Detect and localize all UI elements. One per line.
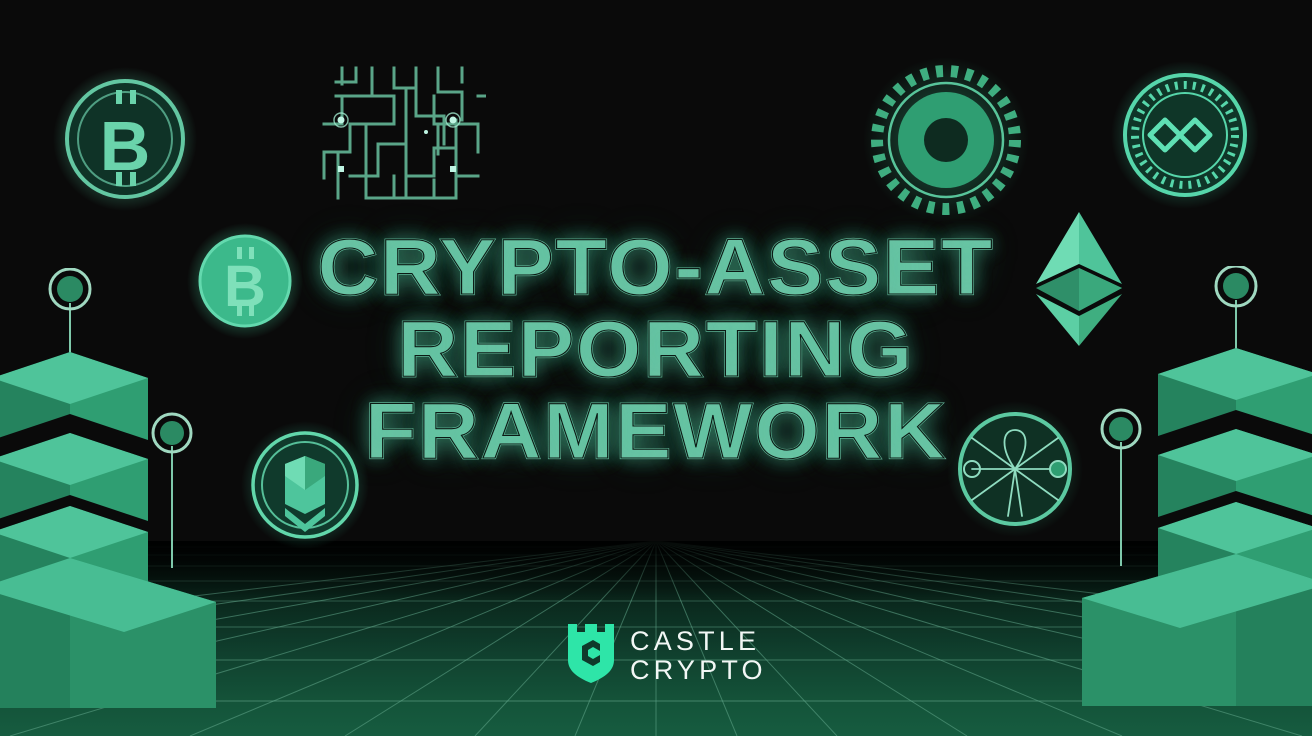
circuit-board-pattern bbox=[316, 58, 486, 213]
poster-title: CRYPTO-ASSET REPORTING FRAMEWORK bbox=[0, 226, 1312, 472]
svg-text:B: B bbox=[100, 107, 151, 185]
logo-word-top: CASTLE bbox=[630, 627, 767, 655]
iso-pedestal bbox=[1082, 554, 1312, 706]
title-line-1-text: CRYPTO-ASSET bbox=[318, 226, 995, 308]
title-line-2-text: REPORTING bbox=[398, 308, 915, 390]
title-line-3-text: FRAMEWORK bbox=[365, 390, 947, 472]
logo-wordmark: CASTLE CRYPTO bbox=[630, 627, 767, 683]
eye-iris-icon bbox=[862, 56, 1030, 229]
iso-pedestal bbox=[0, 558, 216, 708]
bitcoin-coin-outline: B bbox=[52, 66, 198, 217]
title-line-3: FRAMEWORK bbox=[0, 390, 1312, 472]
castle-shield-logo-icon bbox=[566, 622, 616, 689]
title-line-1: CRYPTO-ASSET bbox=[0, 226, 1312, 308]
title-line-2: REPORTING bbox=[0, 308, 1312, 390]
infinity-coin bbox=[1110, 60, 1260, 215]
poster-canvas: B B bbox=[0, 0, 1312, 736]
castle-crypto-logo[interactable]: CASTLE CRYPTO bbox=[566, 622, 767, 689]
logo-word-bottom: CRYPTO bbox=[630, 656, 767, 684]
